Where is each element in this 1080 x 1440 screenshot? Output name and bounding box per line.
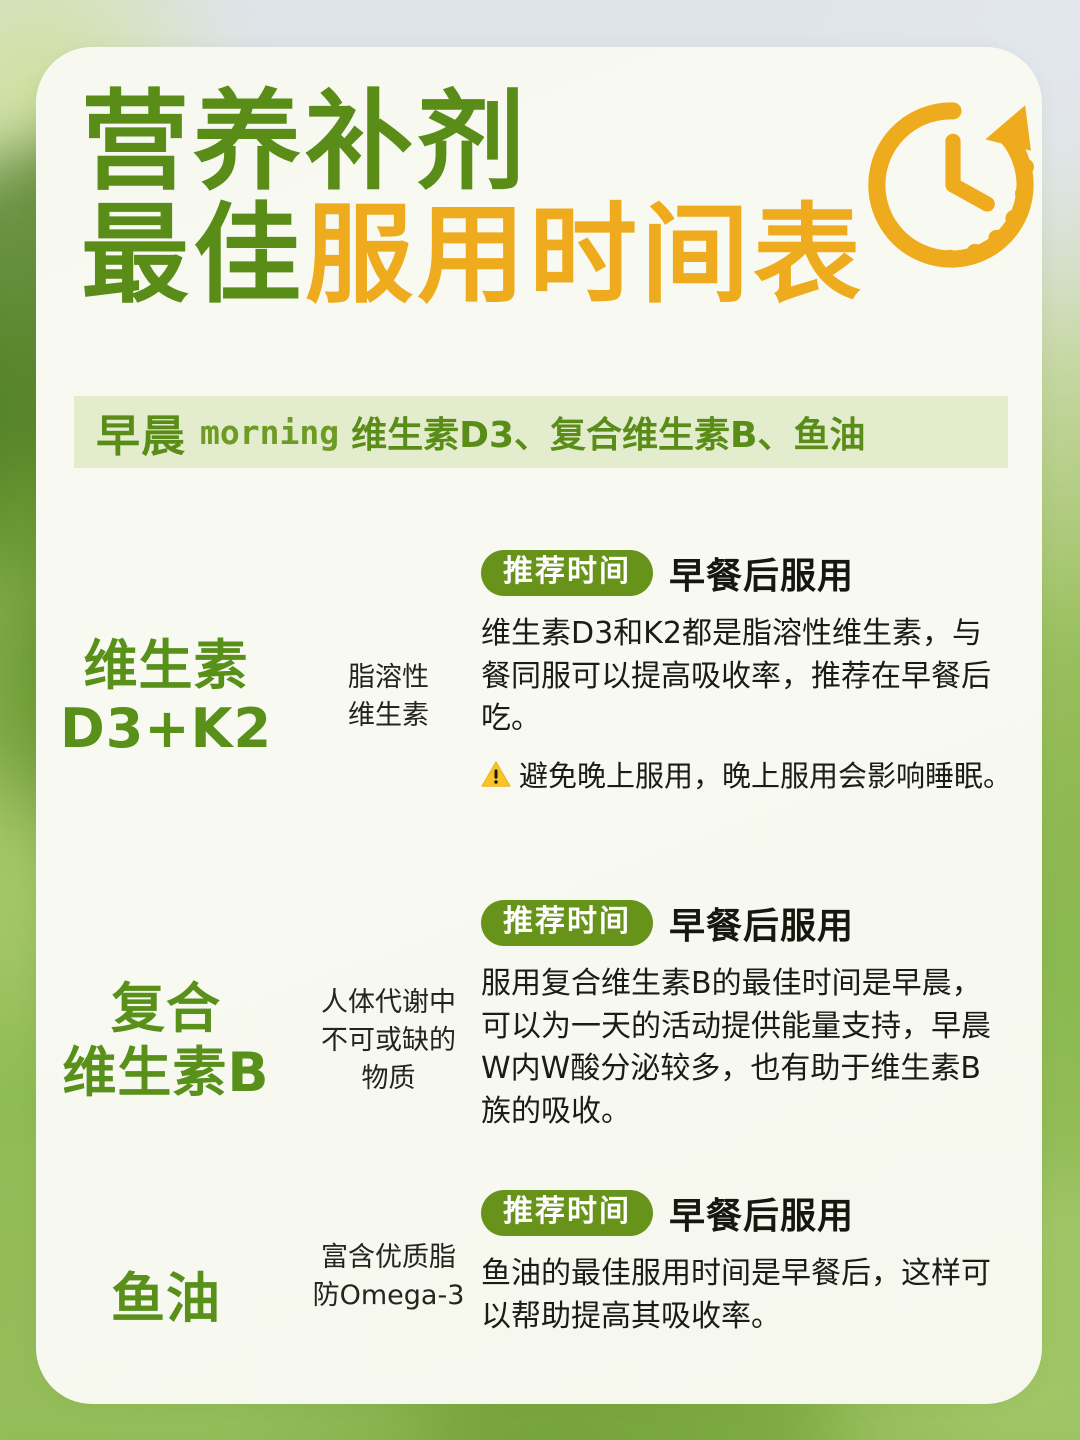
supplement-warning-note: 避免晚上服用，晚上服用会影响睡眠。 (481, 757, 1026, 796)
supplement-description-column: 人体代谢中 不可或缺的 物质 (296, 897, 481, 1133)
supplement-description-column: 脂溶性 维生素 (296, 547, 481, 796)
supplement-body-column: 推荐时间 早餐后服用 鱼油的最佳服用时间是早餐后，这样可以帮助提高其吸收率。 (481, 1187, 1042, 1342)
supplement-description-column: 富含优质脂 防Omega-3 (296, 1187, 481, 1342)
supplement-body-column: 推荐时间 早餐后服用 维生素D3和K2都是脂溶性维生素，与餐同服可以提高吸收率，… (481, 547, 1042, 796)
supplement-body-text: 服用复合维生素B的最佳时间是早晨，可以为一天的活动提供能量支持，早晨W内W酸分泌… (481, 963, 1001, 1133)
supplement-body-text: 维生素D3和K2都是脂溶性维生素，与餐同服可以提高吸收率，推荐在早餐后吃。 (481, 613, 1001, 741)
title-segment-green: 最佳 (81, 193, 305, 318)
banner-time-label-english: morning (200, 413, 339, 452)
supplement-row: 维生素 D3+K2 脂溶性 维生素 推荐时间 早餐后服用 维生素D3和K2都是脂… (36, 547, 1042, 796)
title-segment-orange: 服用时间表 (305, 193, 865, 318)
supplement-description: 人体代谢中 不可或缺的 物质 (321, 984, 456, 1099)
warning-triangle-icon (481, 760, 511, 793)
clock-refresh-icon (858, 90, 1042, 280)
supplement-row: 鱼油 富含优质脂 防Omega-3 推荐时间 早餐后服用 鱼油的最佳服用时间是早… (36, 1187, 1042, 1342)
recommended-time-line: 推荐时间 早餐后服用 (481, 547, 1026, 599)
recommended-time-badge: 推荐时间 (481, 1190, 653, 1236)
recommended-time-value: 早餐后服用 (669, 897, 854, 949)
recommended-time-value: 早餐后服用 (669, 547, 854, 599)
supplement-name-column: 鱼油 (36, 1187, 296, 1342)
supplement-name: 维生素 D3+K2 (60, 634, 272, 761)
supplement-description: 脂溶性 维生素 (348, 659, 429, 736)
title-line-secondary: 最佳服用时间表 (81, 198, 941, 315)
page-title: 营养补剂 最佳服用时间表 (81, 85, 941, 314)
title-line-primary: 营养补剂 (81, 85, 941, 202)
morning-banner: 早晨 morning 维生素D3、复合维生素B、鱼油 (74, 396, 1008, 468)
supplement-warning-text: 避免晚上服用，晚上服用会影响睡眠。 (519, 757, 1012, 796)
supplement-name-column: 复合 维生素B (36, 897, 296, 1133)
banner-time-label: 早晨 (96, 400, 186, 464)
recommended-time-value: 早餐后服用 (669, 1187, 854, 1239)
supplement-name: 鱼油 (111, 1249, 221, 1331)
supplement-body-column: 推荐时间 早餐后服用 服用复合维生素B的最佳时间是早晨，可以为一天的活动提供能量… (481, 897, 1042, 1133)
recommended-time-badge: 推荐时间 (481, 900, 653, 946)
recommended-time-badge: 推荐时间 (481, 550, 653, 596)
supplement-name: 复合 维生素B (62, 977, 269, 1104)
content-card: 营养补剂 最佳服用时间表 早晨 morning 维生素D3、复合维生素B、鱼油 … (36, 47, 1042, 1404)
banner-supplement-list: 维生素D3、复合维生素B、鱼油 (351, 406, 865, 458)
supplement-body-text: 鱼油的最佳服用时间是早餐后，这样可以帮助提高其吸收率。 (481, 1253, 1001, 1338)
supplement-row: 复合 维生素B 人体代谢中 不可或缺的 物质 推荐时间 早餐后服用 服用复合维生… (36, 897, 1042, 1133)
recommended-time-line: 推荐时间 早餐后服用 (481, 897, 1026, 949)
supplement-description: 富含优质脂 防Omega-3 (313, 1239, 465, 1342)
supplement-name-column: 维生素 D3+K2 (36, 547, 296, 796)
recommended-time-line: 推荐时间 早餐后服用 (481, 1187, 1026, 1239)
